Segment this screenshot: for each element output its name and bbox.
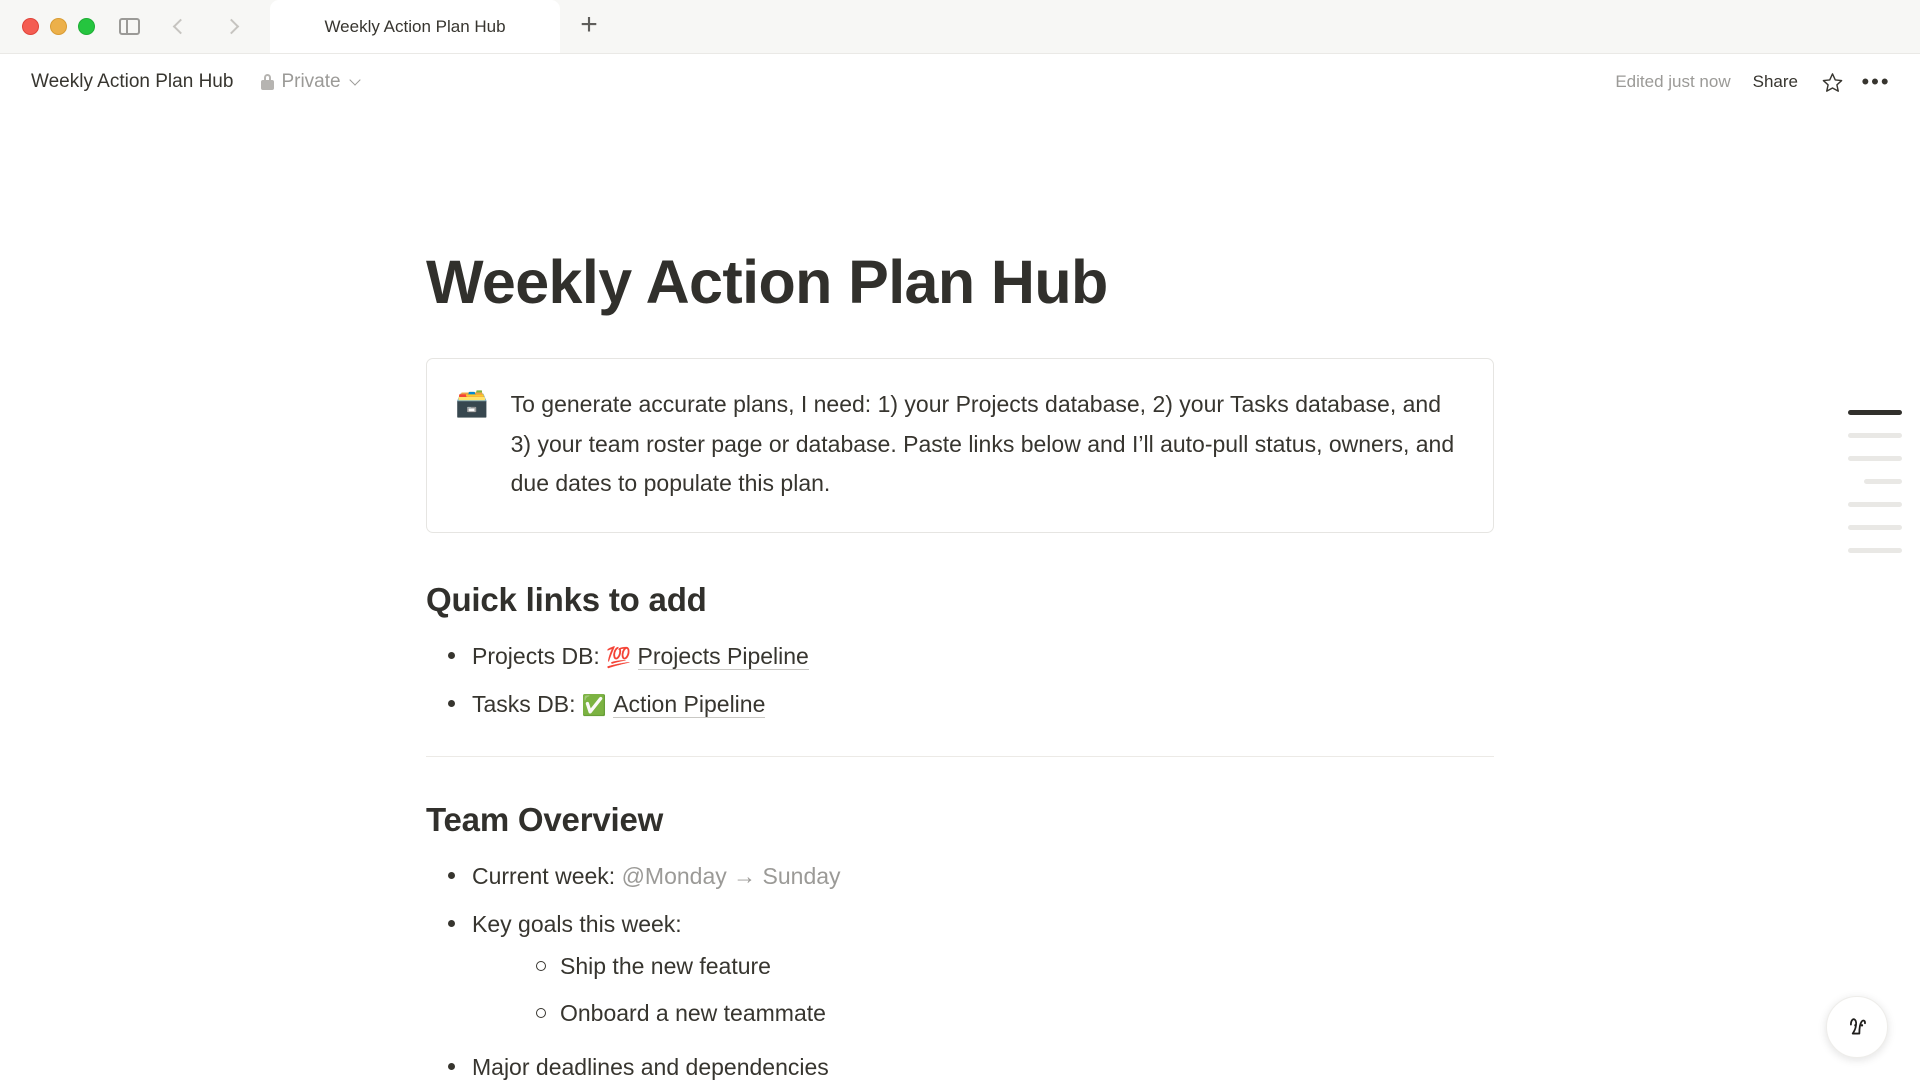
sidebar-toggle-icon[interactable] (112, 9, 146, 43)
lock-icon (261, 74, 274, 90)
hundred-points-emoji: 💯 (606, 647, 631, 669)
page-canvas: Weekly Action Plan Hub 🗃️ To generate ac… (0, 110, 1920, 1080)
window-controls (0, 0, 264, 53)
team-overview-list: Current week: @Monday → Sunday Key goals… (426, 853, 1494, 1080)
zoom-window-button[interactable] (78, 18, 95, 35)
breadcrumb-page-title[interactable]: Weekly Action Plan Hub (24, 67, 240, 97)
topbar-actions: Edited just now Share ••• (1607, 64, 1896, 100)
quick-link-label: Tasks DB: (472, 691, 582, 717)
list-item[interactable]: Current week: @Monday → Sunday (426, 853, 1494, 901)
list-item[interactable]: Major deadlines and dependencies (426, 1044, 1494, 1080)
callout-text: To generate accurate plans, I need: 1) y… (511, 385, 1465, 504)
outline-line[interactable] (1864, 479, 1902, 484)
edited-status: Edited just now (1607, 67, 1738, 97)
close-window-button[interactable] (22, 18, 39, 35)
list-item[interactable]: Key goals this week: Ship the new featur… (426, 901, 1494, 1044)
breadcrumb: Weekly Action Plan Hub Private (24, 67, 366, 97)
plus-icon: + (580, 10, 598, 40)
chevron-right-icon[interactable] (214, 9, 248, 43)
arrow-icon: → (733, 863, 756, 889)
page-topbar: Weekly Action Plan Hub Private Edited ju… (0, 54, 1920, 110)
privacy-label: Private (281, 71, 340, 93)
key-goals-label: Key goals this week: (472, 911, 682, 937)
projects-pipeline-link[interactable]: Projects Pipeline (638, 643, 809, 670)
quick-links-heading[interactable]: Quick links to add (426, 581, 1494, 619)
minimize-window-button[interactable] (50, 18, 67, 35)
document-content: Weekly Action Plan Hub 🗃️ To generate ac… (426, 110, 1494, 1080)
list-item[interactable]: Tasks DB: ✅ Action Pipeline (426, 681, 1494, 729)
quick-link-label: Projects DB: (472, 643, 606, 669)
current-week-label: Current week: (472, 863, 622, 889)
quick-links-list: Projects DB: 💯 Projects Pipeline Tasks D… (426, 633, 1494, 728)
ellipsis-icon[interactable]: ••• (1856, 64, 1896, 100)
action-pipeline-link[interactable]: Action Pipeline (613, 691, 765, 718)
browser-tab-label: Weekly Action Plan Hub (324, 17, 505, 37)
date-mention-start[interactable]: @Monday (622, 863, 727, 889)
new-tab-button[interactable]: + (560, 0, 618, 53)
key-goals-sublist: Ship the new feature Onboard a new teamm… (472, 943, 1494, 1038)
privacy-selector[interactable]: Private (254, 67, 365, 97)
notion-ai-button[interactable] (1826, 996, 1888, 1058)
outline-line[interactable] (1848, 525, 1902, 530)
chevron-down-icon (349, 74, 360, 85)
list-item[interactable]: Projects DB: 💯 Projects Pipeline (426, 633, 1494, 681)
document-outline-minimap[interactable] (1848, 410, 1902, 553)
date-mention-end[interactable]: Sunday (763, 863, 841, 889)
list-item[interactable]: Ship the new feature (472, 943, 1494, 991)
outline-line[interactable] (1848, 548, 1902, 553)
star-icon[interactable] (1812, 64, 1852, 100)
outline-line[interactable] (1848, 410, 1902, 415)
page-title[interactable]: Weekly Action Plan Hub (426, 248, 1494, 316)
check-mark-button-emoji: ✅ (582, 695, 607, 717)
chevron-left-icon[interactable] (163, 9, 197, 43)
share-button[interactable]: Share (1743, 67, 1808, 97)
section-divider (426, 756, 1494, 757)
notion-ai-face-icon (1842, 1012, 1872, 1042)
window-tab-strip: Weekly Action Plan Hub + (0, 0, 1920, 54)
outline-line[interactable] (1848, 433, 1902, 438)
outline-line[interactable] (1848, 456, 1902, 461)
callout-block[interactable]: 🗃️ To generate accurate plans, I need: 1… (426, 358, 1494, 533)
card-file-box-emoji: 🗃️ (455, 385, 489, 504)
list-item[interactable]: Onboard a new teammate (472, 990, 1494, 1038)
team-overview-heading[interactable]: Team Overview (426, 801, 1494, 839)
outline-line[interactable] (1848, 502, 1902, 507)
browser-tab-active[interactable]: Weekly Action Plan Hub (270, 0, 560, 53)
